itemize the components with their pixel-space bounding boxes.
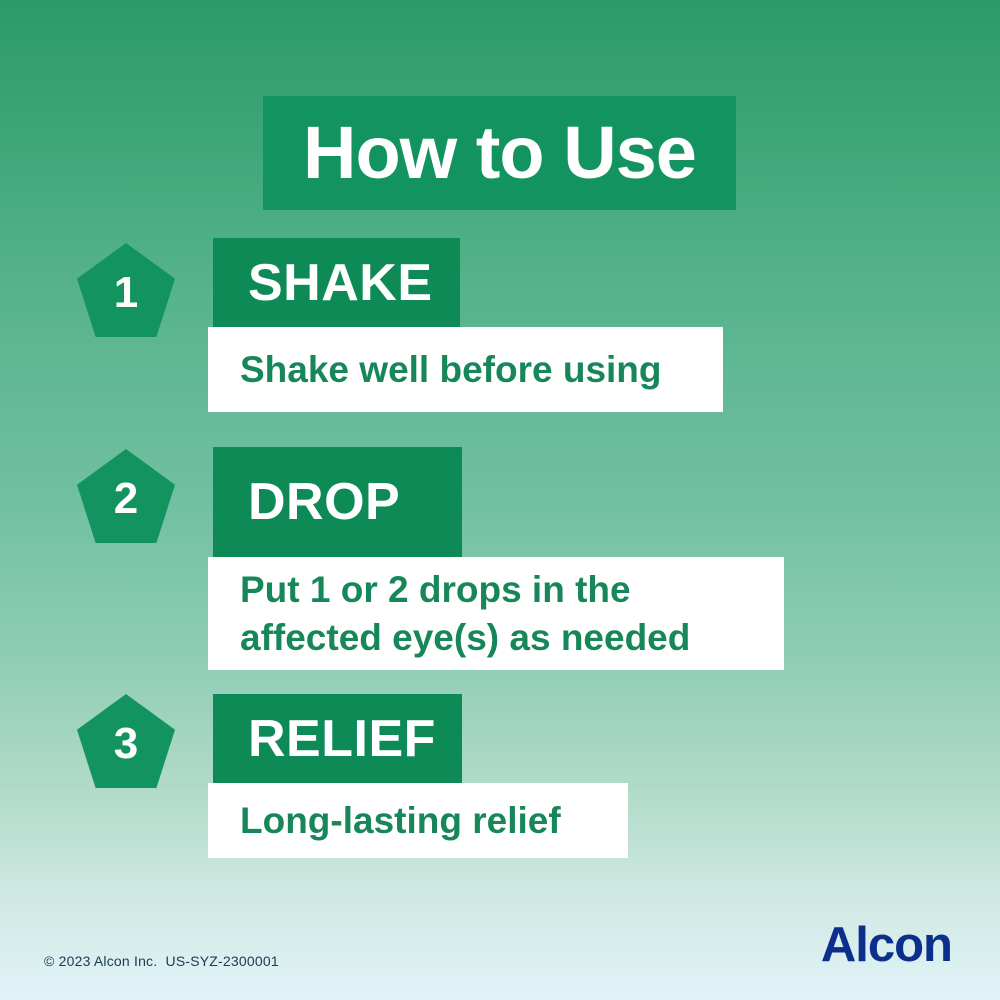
- alcon-logo: Alcon: [821, 921, 952, 970]
- page-title: How to Use: [303, 116, 696, 190]
- step-number-pentagon-icon: 2: [77, 449, 175, 543]
- step-label-banner-1: SHAKE: [213, 238, 460, 327]
- step-number-pentagon-icon: 3: [77, 694, 175, 788]
- step-description-banner-2: Put 1 or 2 drops in the affected eye(s) …: [208, 557, 784, 670]
- step-number-2: 2: [114, 477, 138, 521]
- step-label-banner-3: RELIEF: [213, 694, 462, 783]
- step-label-1: SHAKE: [213, 257, 433, 309]
- step-description-3: Long-lasting relief: [208, 797, 585, 844]
- copyright-text: © 2023 Alcon Inc. US-SYZ-2300001: [44, 953, 279, 969]
- step-label-banner-2: DROP: [213, 447, 462, 557]
- step-number-3: 3: [114, 722, 138, 766]
- step-number-pentagon-icon: 1: [77, 243, 175, 337]
- step-description-banner-1: Shake well before using: [208, 327, 723, 412]
- step-label-2: DROP: [213, 476, 400, 528]
- step-label-3: RELIEF: [213, 713, 436, 765]
- step-description-1: Shake well before using: [208, 346, 686, 393]
- step-description-banner-3: Long-lasting relief: [208, 783, 628, 858]
- step-description-2: Put 1 or 2 drops in the affected eye(s) …: [208, 566, 784, 661]
- how-to-use-poster: How to Use 1 SHAKE Shake well before usi…: [0, 0, 1000, 1000]
- page-title-banner: How to Use: [263, 96, 736, 210]
- step-number-1: 1: [114, 271, 138, 315]
